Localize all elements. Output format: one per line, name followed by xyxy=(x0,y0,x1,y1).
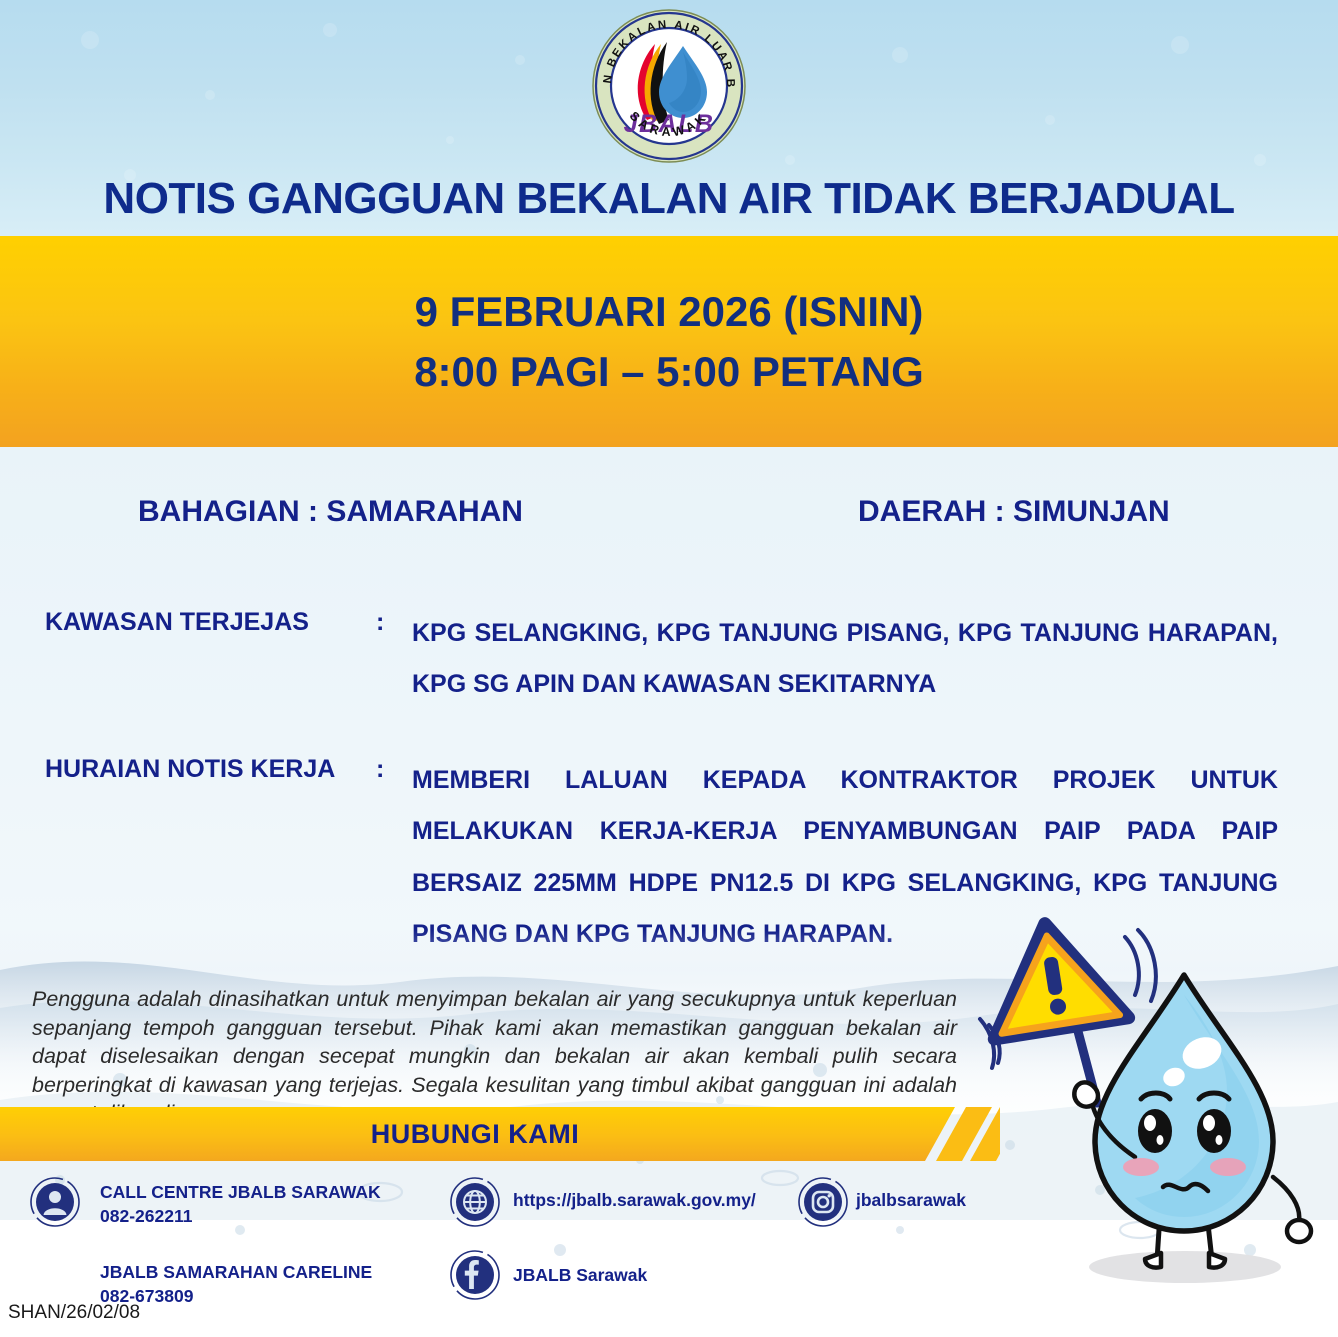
detail-line: KPG SELANGKING, KPG TANJUNG PISANG, KPG … xyxy=(412,608,1278,659)
huraian-notis-kerja-label: HURAIAN NOTIS KERJA xyxy=(45,755,335,784)
page-title-band: NOTIS GANGGUAN BEKALAN AIR TIDAK BERJADU… xyxy=(0,162,1338,236)
instagram-icon[interactable] xyxy=(798,1177,848,1227)
page-title: NOTIS GANGGUAN BEKALAN AIR TIDAK BERJADU… xyxy=(103,174,1234,224)
kawasan-terjejas-label: KAWASAN TERJEJAS xyxy=(45,608,309,637)
detail-line: MEMBERI LALUAN KEPADA KONTRAKTOR PROJEK … xyxy=(412,755,1278,806)
website-url[interactable]: https://jbalb.sarawak.gov.my/ xyxy=(513,1189,756,1213)
contact-bar-label: HUBUNGI KAMI xyxy=(0,1107,950,1161)
kawasan-terjejas-value: KPG SELANGKING, KPG TANJUNG PISANG, KPG … xyxy=(412,608,1278,711)
kawasan-terjejas-colon: : xyxy=(376,608,384,637)
careline-name: JBALB SAMARAHAN CARELINE xyxy=(100,1261,372,1285)
huraian-notis-kerja-colon: : xyxy=(376,755,384,784)
globe-icon[interactable] xyxy=(450,1177,500,1227)
detail-line: BERSAIZ 225MM HDPE PN12.5 DI KPG SELANGK… xyxy=(412,858,1278,909)
facebook-icon[interactable] xyxy=(450,1250,500,1300)
date-banner: 9 FEBRUARI 2026 (ISNIN) 8:00 PAGI – 5:00… xyxy=(0,236,1338,447)
call-centre-phone[interactable]: 082-262211 xyxy=(100,1205,381,1229)
detail-line: MELAKUKAN KERJA-KERJA PENYAMBUNGAN PAIP … xyxy=(412,806,1278,857)
bahagian-label: BAHAGIAN : SAMARAHAN xyxy=(138,495,523,529)
person-icon xyxy=(30,1177,80,1227)
jbalb-logo: JBALB JABATAN BEKALAN AIR LUAR BANDAR SA… xyxy=(591,8,747,164)
poster: JBALB JABATAN BEKALAN AIR LUAR BANDAR SA… xyxy=(0,0,1338,1337)
outage-time: 8:00 PAGI – 5:00 PETANG xyxy=(414,342,924,402)
call-centre-info: CALL CENTRE JBALB SARAWAK 082-262211 xyxy=(100,1181,381,1228)
contact-bar: HUBUNGI KAMI xyxy=(0,1107,1000,1161)
outage-date: 9 FEBRUARI 2026 (ISNIN) xyxy=(415,282,924,342)
water-droplet-mascot xyxy=(975,915,1338,1315)
careline-phone[interactable]: 082-673809 xyxy=(100,1285,372,1309)
facebook-handle[interactable]: JBALB Sarawak xyxy=(513,1264,647,1288)
careline-info: JBALB SAMARAHAN CARELINE 082-673809 xyxy=(100,1261,372,1308)
region-row: BAHAGIAN : SAMARAHAN DAERAH : SIMUNJAN xyxy=(0,495,1338,545)
instagram-handle[interactable]: jbalbsarawak xyxy=(856,1189,966,1213)
daerah-label: DAERAH : SIMUNJAN xyxy=(858,495,1170,529)
call-centre-name: CALL CENTRE JBALB SARAWAK xyxy=(100,1181,381,1205)
detail-line: KPG SG APIN DAN KAWASAN SEKITARNYA xyxy=(412,659,1278,710)
reference-code: SHAN/26/02/08 xyxy=(8,1302,140,1324)
